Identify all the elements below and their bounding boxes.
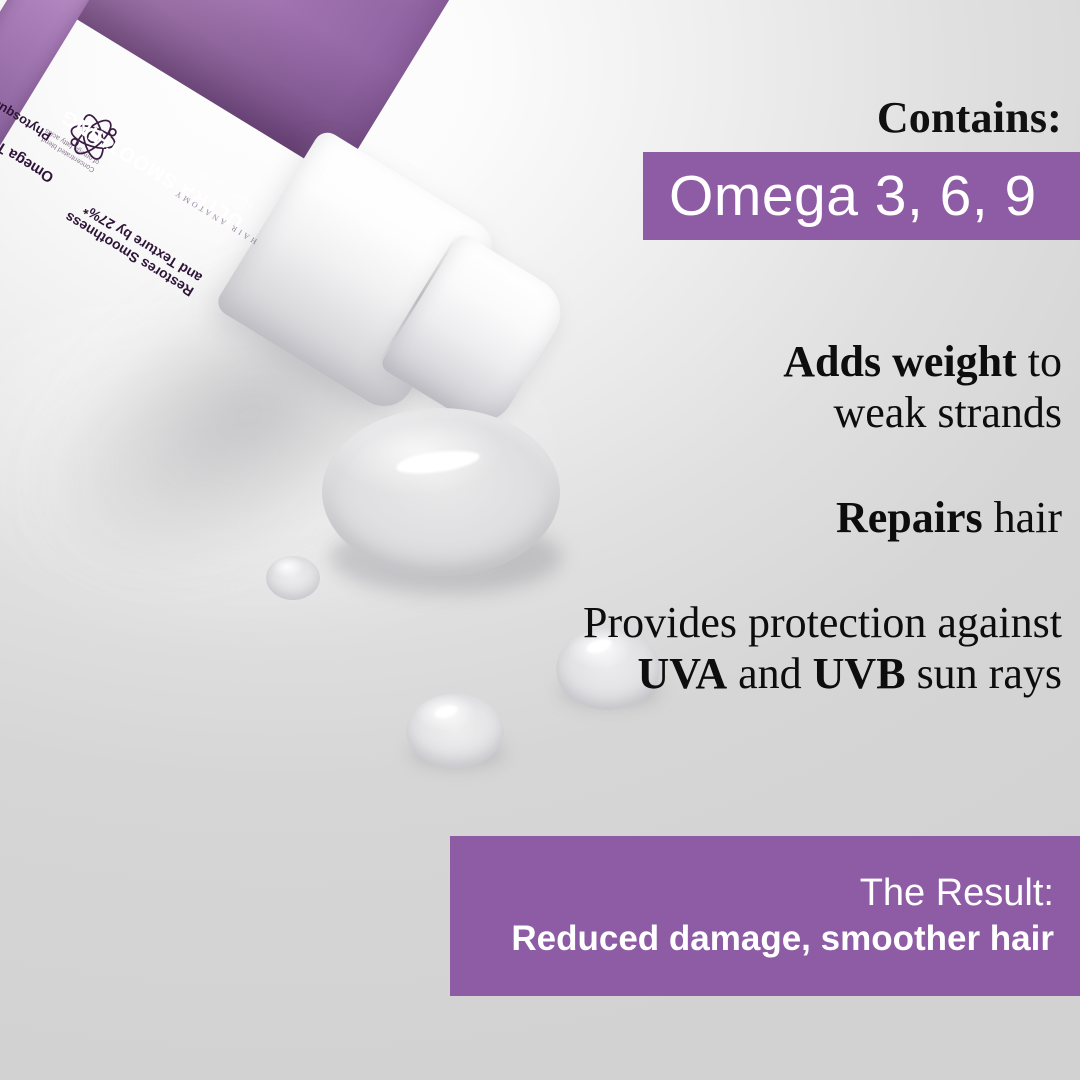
result-heading: The Result: xyxy=(860,872,1054,915)
benefit-adds-weight-rest: to xyxy=(1017,337,1062,386)
benefit-adds-weight: Adds weight to weak strands xyxy=(442,336,1062,438)
contains-heading: Contains: xyxy=(877,92,1062,143)
contains-value: Omega 3, 6, 9 xyxy=(643,163,1037,229)
benefit-sun-protection-line1: Provides protection against xyxy=(583,598,1062,647)
benefit-uvb-bold: UVB xyxy=(813,649,906,698)
benefit-adds-weight-bold: Adds weight xyxy=(783,337,1017,386)
benefit-sun-tail: sun rays xyxy=(906,649,1062,698)
tube-claim: Restores Smoothness and Texture by 27%* xyxy=(62,195,205,300)
benefit-repairs-hair: Repairs hair xyxy=(442,492,1062,543)
benefit-uva-bold: UVA xyxy=(637,649,727,698)
benefit-repairs-hair-rest: hair xyxy=(983,493,1062,542)
product-promo-image: ULTRA SMOOTHING Hair Serum HAIR ANATOMY … xyxy=(0,0,1080,1080)
benefit-sun-protection: Provides protection against UVA and UVB … xyxy=(442,597,1062,699)
benefit-adds-weight-line2: weak strands xyxy=(834,388,1063,437)
benefit-sun-mid: and xyxy=(727,649,813,698)
contains-banner: Omega 3, 6, 9 xyxy=(643,152,1080,240)
benefit-repairs-hair-bold: Repairs xyxy=(836,493,983,542)
result-banner: The Result: Reduced damage, smoother hai… xyxy=(450,836,1080,996)
result-statement: Reduced damage, smoother hair xyxy=(511,918,1054,960)
benefits-list: Adds weight to weak strands Repairs hair… xyxy=(442,336,1062,699)
serum-droplet-tiny xyxy=(266,556,320,600)
